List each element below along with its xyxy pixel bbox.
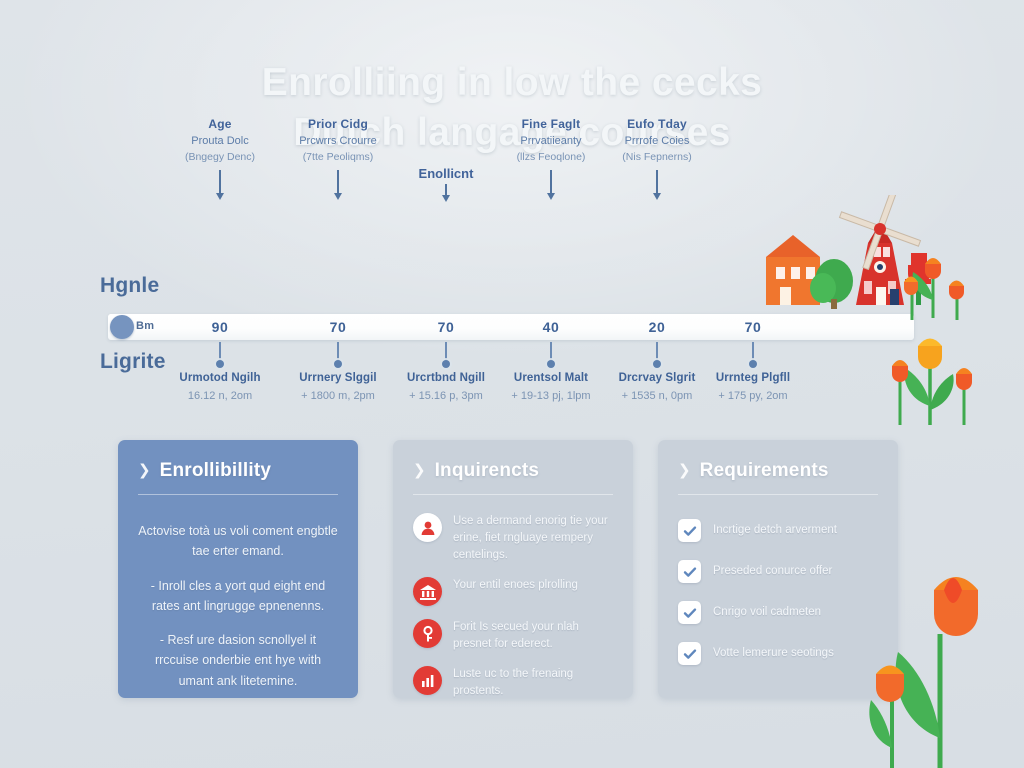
card-title: Inquirencts [435, 460, 540, 482]
milestone-stem [550, 342, 552, 362]
milestone-dot [653, 360, 661, 368]
milestone-dot [749, 360, 757, 368]
person-icon [413, 513, 442, 542]
milestone-stem [752, 342, 754, 362]
timeline-start-dot [110, 315, 134, 339]
chevron-right-icon: ❯ [138, 463, 151, 478]
list-item[interactable]: Use a dermand enorig tie your erine, fie… [413, 513, 613, 564]
list-item[interactable]: Preseded conurce offer [678, 560, 878, 583]
list-item-text: Incrtige detch arverment [713, 522, 837, 538]
checkbox-checked-icon[interactable] [678, 642, 701, 665]
milestone-number: 70 [668, 314, 838, 340]
milestone-arrow-icon [445, 184, 447, 196]
timeline-side-label-top: Hgnle [100, 274, 159, 298]
key-icon [413, 619, 442, 648]
list-item[interactable]: Forit Is secued your nlah presnet for ed… [413, 619, 613, 653]
list-item-text: Votte lemerure seotings [713, 645, 834, 661]
list-item-text: Cnrigo voil cadmeten [713, 604, 821, 620]
card-inquirencts[interactable]: ❯ Inquirencts Use a dermand enorig tie y… [393, 440, 633, 698]
list-item[interactable]: Incrtige detch arverment [678, 519, 878, 542]
card-title: Requirements [700, 460, 829, 482]
list-item-text: Your entil enoes plrolling [453, 577, 578, 594]
list-item-text: Forit Is secued your nlah presnet for ed… [453, 619, 613, 653]
card-list-item: - Inroll cles a yort qud eight end rates… [138, 576, 338, 617]
bank-icon [413, 577, 442, 606]
milestone-arrow-icon [219, 170, 221, 194]
milestone-title: Eufo Tday [572, 116, 742, 133]
card-enrollibillity[interactable]: ❯ Enrollibillity Actovise totà us voli c… [118, 440, 358, 698]
checkbox-checked-icon[interactable] [678, 601, 701, 624]
list-item-text: Luste uc to the frenaing prostents. [453, 666, 613, 698]
milestone-arrow-icon [337, 170, 339, 194]
card-title: Enrollibillity [160, 460, 272, 482]
milestone-dot [547, 360, 555, 368]
checkbox-checked-icon[interactable] [678, 560, 701, 583]
milestone-bottom-sub: + 175 py, 2om [668, 388, 838, 405]
milestone-dot [442, 360, 450, 368]
card-list-item: - Resf ure dasion scnollyel it rrccuise … [138, 630, 338, 691]
milestone-note: (Nis Fepnerns) [572, 150, 742, 166]
list-item-text: Preseded conurce offer [713, 563, 832, 579]
checkbox-checked-icon[interactable] [678, 519, 701, 542]
card-requirements[interactable]: ❯ Requirements Incrtige detch arverment [658, 440, 898, 698]
milestone-arrow-icon [550, 170, 552, 194]
list-item[interactable]: Votte lemerure seotings [678, 642, 878, 665]
infographic-canvas: Enrolliing in low the cecks Dutch langag… [0, 0, 1024, 768]
milestone-stem [219, 342, 221, 362]
milestone-stem [337, 342, 339, 362]
list-item[interactable]: Cnrigo voil cadmeten [678, 601, 878, 624]
cards-row: ❯ Enrollibillity Actovise totà us voli c… [0, 440, 1024, 705]
milestone-dot [334, 360, 342, 368]
milestone-stem [445, 342, 447, 362]
milestone-arrow-icon [656, 170, 658, 194]
chart-icon [413, 666, 442, 695]
list-item[interactable]: Your entil enoes plrolling [413, 577, 613, 606]
list-item-text: Use a dermand enorig tie your erine, fie… [453, 513, 613, 564]
milestone-subtitle: Prrrofe Coies [572, 133, 742, 150]
milestone-stem [656, 342, 658, 362]
chevron-right-icon: ❯ [413, 463, 426, 478]
timeline: Hgnle Ligrite Bm Age Prouta Dolc (Bngegy… [0, 200, 1024, 415]
milestone-bottom-title: Urrnteg Plgfll [668, 370, 838, 388]
chevron-right-icon: ❯ [678, 463, 691, 478]
list-item[interactable]: Luste uc to the frenaing prostents. [413, 666, 613, 698]
card-paragraph: Actovise totà us voli coment engbtle tae… [138, 521, 338, 562]
milestone-dot [216, 360, 224, 368]
